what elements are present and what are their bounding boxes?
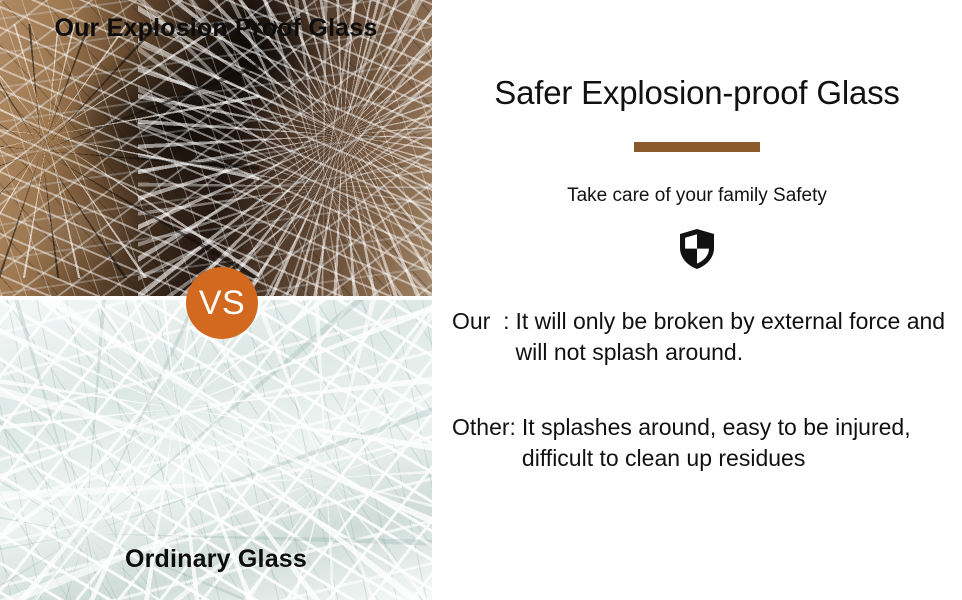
statement-our-text: It will only be broken by external force…	[510, 306, 952, 368]
statement-our: Our : It will only be broken by external…	[452, 306, 952, 368]
title-underline-rule	[634, 142, 760, 152]
statement-other-text: It splashes around, easy to be injured, …	[516, 412, 952, 474]
versus-badge-label: VS	[199, 286, 245, 320]
content-panel: Safer Explosion-proof Glass Take care of…	[432, 0, 962, 600]
top-photo-caption: Our Explosion Proof Glass	[0, 14, 432, 43]
photo-top-crack-web	[0, 24, 259, 279]
page-subtitle: Take care of your family Safety	[432, 185, 962, 207]
versus-badge: VS	[186, 267, 258, 339]
explosion-proof-glass-photo	[0, 0, 432, 296]
statement-other-label: Other:	[452, 412, 516, 443]
statement-other: Other: It splashes around, easy to be in…	[452, 412, 952, 474]
comparison-panel: Our Explosion Proof Glass Ordinary Glass…	[0, 0, 432, 600]
bottom-photo-caption: Ordinary Glass	[0, 545, 432, 574]
shield-icon	[678, 228, 716, 270]
statement-our-label: Our :	[452, 306, 510, 337]
page-title: Safer Explosion-proof Glass	[432, 74, 962, 112]
product-comparison-banner: Our Explosion Proof Glass Ordinary Glass…	[0, 0, 962, 600]
